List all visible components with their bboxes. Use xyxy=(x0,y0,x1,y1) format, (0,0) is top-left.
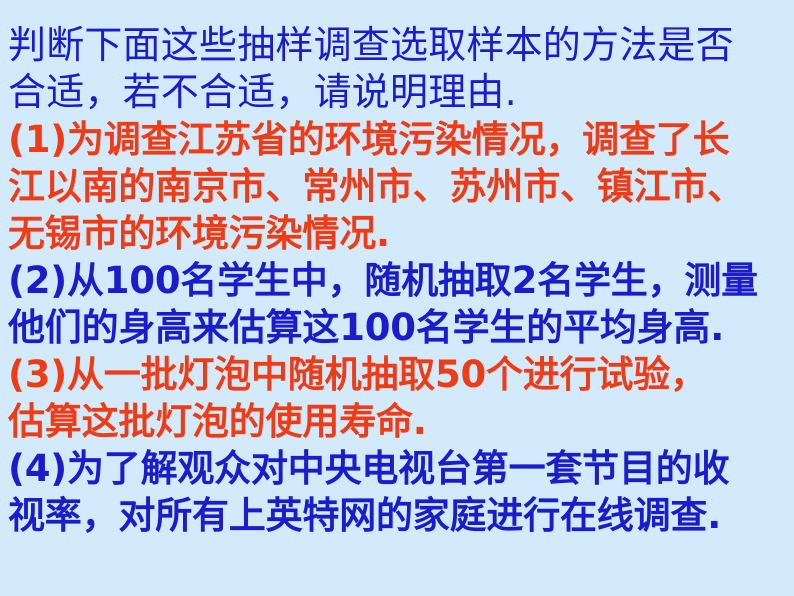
question-4-line-1: (4)为了解观众对中央电视台第一套节目的收 xyxy=(8,445,790,492)
question-2-line-2: 他们的身高来估算这100名学生的平均身高. xyxy=(8,304,790,351)
question-1-line-1: (1)为调查江苏省的环境污染情况，调查了长 xyxy=(8,116,790,163)
question-stem-line-1: 判断下面这些抽样调查选取样本的方法是否 xyxy=(8,22,790,69)
question-3-line-1: (3)从一批灯泡中随机抽取50个进行试验， xyxy=(8,351,790,398)
question-1-line-3: 无锡市的环境污染情况. xyxy=(8,210,790,257)
question-2-line-1: (2)从100名学生中，随机抽取2名学生，测量 xyxy=(8,257,790,304)
slide-text-body: 判断下面这些抽样调查选取样本的方法是否 合适，若不合适，请说明理由. (1)为调… xyxy=(8,22,790,539)
question-4-line-2: 视率，对所有上英特网的家庭进行在线调查. xyxy=(8,492,790,539)
question-1-line-2: 江以南的南京市、常州市、苏州市、镇江市、 xyxy=(8,163,790,210)
presentation-slide: 判断下面这些抽样调查选取样本的方法是否 合适，若不合适，请说明理由. (1)为调… xyxy=(0,0,794,596)
question-3-line-2: 估算这批灯泡的使用寿命. xyxy=(8,398,790,445)
question-stem-line-2: 合适，若不合适，请说明理由. xyxy=(8,69,790,116)
